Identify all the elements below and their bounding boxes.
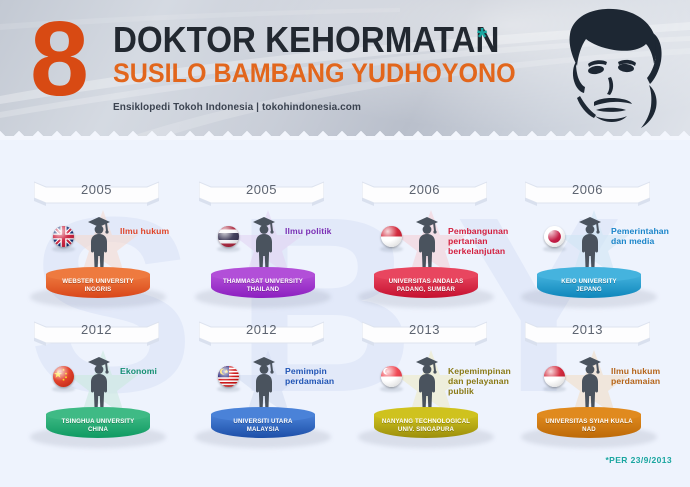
university-label: WEBSTER UNIVERSITY INGGRIS — [46, 278, 150, 293]
flag-glare — [218, 226, 239, 247]
field-label: Ilmu politik — [285, 226, 357, 236]
university-country: INGGRIS — [46, 286, 150, 294]
malaysia-flag-icon — [218, 366, 239, 387]
page-subject-name: SUSILO BAMBANG YUDHOYONO — [113, 60, 516, 87]
flag-glare — [544, 366, 565, 387]
degree-card[interactable]: 2005 Ilmu politik THAMMASAT UNIVERSITY T… — [187, 178, 352, 318]
field-label: Pemerintahan dan media — [611, 226, 683, 246]
flag-glare — [381, 226, 402, 247]
university-name: TSINGHUA UNIVERSITY — [46, 418, 150, 426]
flag-glare — [381, 366, 402, 387]
graduate-figure-icon — [575, 214, 605, 274]
degree-card[interactable]: 2012 Ekonomi TSINGHUA UNIVERSITY CHINA — [22, 318, 187, 458]
degree-card[interactable]: 2006 Pembangunan pertanian berkelanjutan… — [350, 178, 515, 318]
university-podium: THAMMASAT UNIVERSITY THAILAND — [201, 266, 325, 306]
field-label: Pembangunan pertanian berkelanjutan — [448, 226, 520, 257]
university-name: KEIO UNIVERSITY — [537, 278, 641, 286]
university-podium: TSINGHUA UNIVERSITY CHINA — [36, 406, 160, 446]
flag-glare — [53, 366, 74, 387]
degree-card[interactable]: 2012 Pemimpin perdamaian UNIVERSITI UTAR… — [187, 318, 352, 458]
header-banner: 8 DOKTOR KEHORMATAN * SUSILO BAMBANG YUD… — [0, 0, 690, 140]
university-label: KEIO UNIVERSITY JEPANG — [537, 278, 641, 293]
university-podium: UNIVERSITAS ANDALAS PADANG, SUMBAR — [364, 266, 488, 306]
field-label: Kepemimpinan dan pelayanan publik — [448, 366, 520, 397]
university-name: UNIVERSITAS SYIAH KUALA — [537, 418, 641, 426]
graduate-figure-icon — [84, 214, 114, 274]
university-label: UNIVERSITAS ANDALAS PADANG, SUMBAR — [374, 278, 478, 293]
flag-glare — [544, 226, 565, 247]
university-country: JEPANG — [537, 286, 641, 294]
year-label: 2012 — [199, 322, 324, 337]
title-asterisk: * — [477, 22, 487, 53]
degree-card[interactable]: 2013 Ilmu hukum perdamaian UNIVERSITAS S… — [513, 318, 678, 458]
university-label: NANYANG TECHNOLOGICAL UNIV. SINGAPURA — [374, 418, 478, 433]
graduate-figure-icon — [84, 354, 114, 414]
count-number: 8 — [30, 6, 86, 112]
graduate-figure-icon — [412, 354, 442, 414]
degree-card[interactable]: 2005 Ilmu hukum WEBSTER UNIVERSITY INGGR… — [22, 178, 187, 318]
university-country: PADANG, SUMBAR — [374, 286, 478, 294]
flag-glare — [53, 226, 74, 247]
university-podium: UNIVERSITI UTARA MALAYSIA — [201, 406, 325, 446]
thailand-flag-icon — [218, 226, 239, 247]
graduate-figure-icon — [249, 354, 279, 414]
footer-note: *PER 23/9/2013 — [605, 455, 672, 465]
uk-flag-icon — [53, 226, 74, 247]
infographic-root: 8 DOKTOR KEHORMATAN * SUSILO BAMBANG YUD… — [0, 0, 690, 487]
japan-flag-icon — [544, 226, 565, 247]
graduate-figure-icon — [412, 214, 442, 274]
page-title: DOKTOR KEHORMATAN — [113, 22, 499, 58]
year-label: 2006 — [525, 182, 650, 197]
degree-card[interactable]: 2006 Pemerintahan dan media KEIO UNIVERS… — [513, 178, 678, 318]
degree-card-grid: 2005 Ilmu hukum WEBSTER UNIVERSITY INGGR… — [0, 150, 690, 470]
university-label: UNIVERSITI UTARA MALAYSIA — [211, 418, 315, 433]
university-country: CHINA — [46, 426, 150, 434]
flag-glare — [218, 366, 239, 387]
graduate-figure-icon — [249, 214, 279, 274]
university-name: UNIVERSITAS ANDALAS — [374, 278, 478, 286]
header-zigzag-fill — [0, 136, 690, 140]
university-country: NAD — [537, 426, 641, 434]
year-label: 2005 — [34, 182, 159, 197]
university-label: THAMMASAT UNIVERSITY THAILAND — [211, 278, 315, 293]
degree-card[interactable]: 2013 Kepemimpinan dan pelayanan publik N… — [350, 318, 515, 458]
sby-portrait-icon — [510, 4, 680, 134]
university-podium: NANYANG TECHNOLOGICAL UNIV. SINGAPURA — [364, 406, 488, 446]
university-country: THAILAND — [211, 286, 315, 294]
university-country: MALAYSIA — [211, 426, 315, 434]
year-label: 2006 — [362, 182, 487, 197]
year-label: 2012 — [34, 322, 159, 337]
university-label: UNIVERSITAS SYIAH KUALA NAD — [537, 418, 641, 433]
university-name: UNIVERSITI UTARA — [211, 418, 315, 426]
indonesia-flag-icon — [381, 226, 402, 247]
university-label: TSINGHUA UNIVERSITY CHINA — [46, 418, 150, 433]
graduate-figure-icon — [575, 354, 605, 414]
field-label: Ilmu hukum — [120, 226, 192, 236]
university-country: UNIV. SINGAPURA — [374, 426, 478, 434]
year-label: 2005 — [199, 182, 324, 197]
university-name: WEBSTER UNIVERSITY — [46, 278, 150, 286]
university-name: NANYANG TECHNOLOGICAL — [374, 418, 478, 426]
year-label: 2013 — [362, 322, 487, 337]
indonesia-flag-icon — [544, 366, 565, 387]
singapore-flag-icon — [381, 366, 402, 387]
field-label: Ekonomi — [120, 366, 192, 376]
university-podium: UNIVERSITAS SYIAH KUALA NAD — [527, 406, 651, 446]
china-flag-icon — [53, 366, 74, 387]
field-label: Pemimpin perdamaian — [285, 366, 357, 386]
university-podium: WEBSTER UNIVERSITY INGGRIS — [36, 266, 160, 306]
field-label: Ilmu hukum perdamaian — [611, 366, 683, 386]
source-credit: Ensiklopedi Tokoh Indonesia | tokohindon… — [113, 102, 361, 113]
year-label: 2013 — [525, 322, 650, 337]
university-podium: KEIO UNIVERSITY JEPANG — [527, 266, 651, 306]
university-name: THAMMASAT UNIVERSITY — [211, 278, 315, 286]
